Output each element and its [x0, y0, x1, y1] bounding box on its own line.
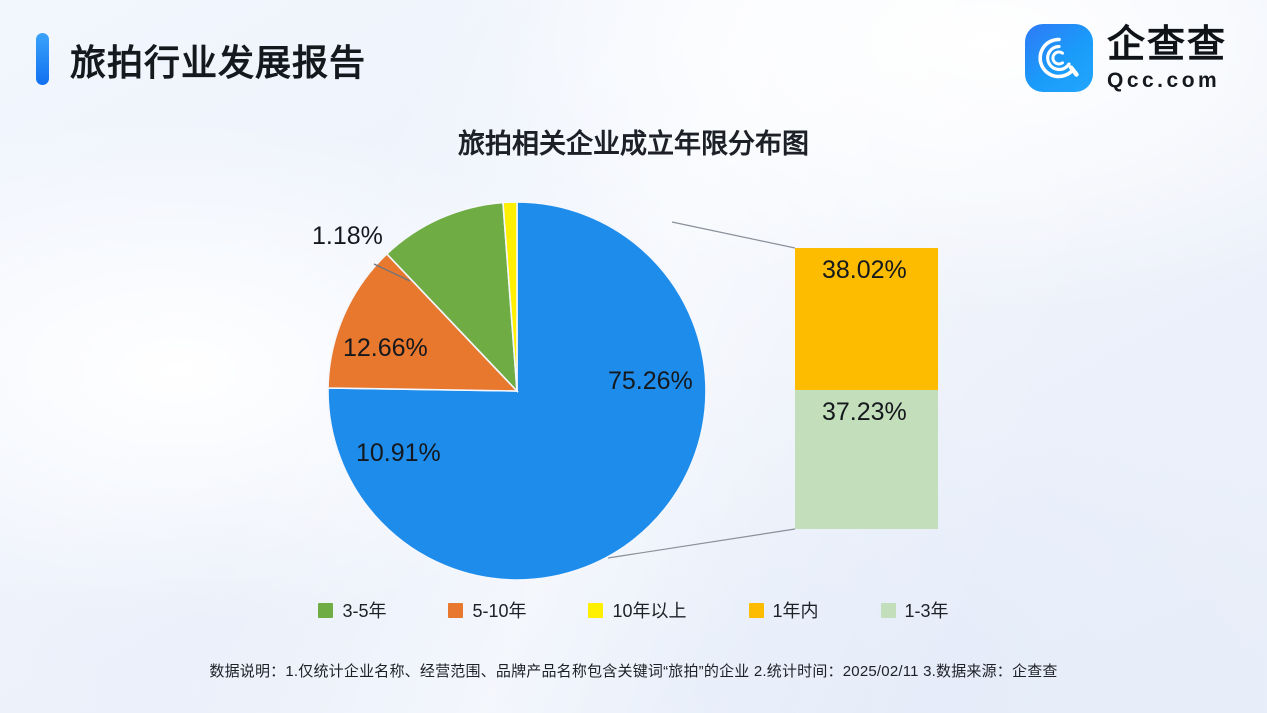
header-accent-bar	[36, 33, 49, 85]
legend-item[interactable]: 1年内	[749, 597, 819, 623]
brand-logo: 企查查 Qcc.com	[1025, 24, 1227, 92]
pie-slice-value-over10: 1.18%	[312, 222, 383, 251]
legend-swatch-icon	[318, 603, 333, 618]
legend-item-label: 3-5年	[342, 597, 386, 623]
legend-item-label: 5-10年	[472, 597, 526, 623]
legend-item[interactable]: 5-10年	[448, 597, 526, 623]
brand-text: 企查查 Qcc.com	[1107, 26, 1227, 91]
footer-note: 数据说明：1.仅统计企业名称、经营范围、品牌产品名称包含关键词“旅拍”的企业 2…	[0, 660, 1267, 681]
pie-slice-value-major: 75.26%	[608, 367, 693, 396]
legend-item-label: 10年以上	[612, 597, 686, 623]
chart-legend: 3-5年5-10年10年以上1年内1-3年	[0, 597, 1267, 623]
pie-slice	[328, 254, 517, 391]
legend-item[interactable]: 3-5年	[318, 597, 386, 623]
qcc-logo-icon	[1025, 24, 1093, 92]
brand-name-cn: 企查查	[1107, 26, 1227, 64]
brand-name-en: Qcc.com	[1107, 70, 1227, 91]
breakout-stacked-bar	[795, 248, 938, 529]
legend-item-label: 1-3年	[905, 597, 949, 623]
legend-swatch-icon	[448, 603, 463, 618]
legend-item[interactable]: 1-3年	[881, 597, 949, 623]
pie-slice-value-5to10: 12.66%	[343, 334, 428, 363]
bar-segment-value-1to3y: 37.23%	[822, 398, 907, 427]
legend-swatch-icon	[881, 603, 896, 618]
chart-title: 旅拍相关企业成立年限分布图	[0, 122, 1267, 161]
legend-swatch-icon	[749, 603, 764, 618]
legend-item-label: 1年内	[773, 597, 819, 623]
slice-leader-line	[374, 264, 410, 281]
bar-segment-value-within1y: 38.02%	[822, 256, 907, 285]
pie-slice-value-3to5: 10.91%	[356, 439, 441, 468]
page-header: 旅拍行业发展报告 企查查 Qcc.com	[0, 0, 1267, 116]
pie-slice	[503, 202, 517, 391]
page-title: 旅拍行业发展报告	[70, 34, 366, 86]
infographic-page: 旅拍行业发展报告 企查查 Qcc.com 旅拍相关企业成立年限分布图	[0, 0, 1267, 713]
legend-item[interactable]: 10年以上	[588, 597, 686, 623]
legend-swatch-icon	[588, 603, 603, 618]
